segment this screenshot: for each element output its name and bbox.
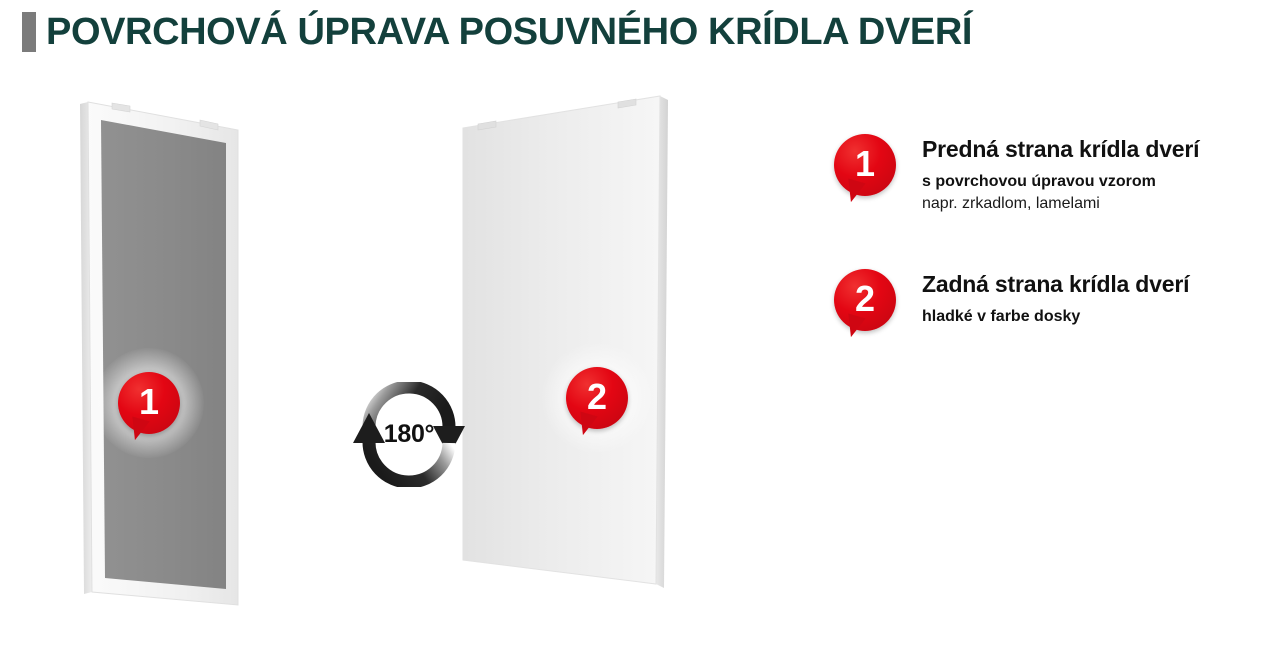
- rotate-180-icon: 180°: [345, 382, 473, 487]
- pin-number: 2: [566, 367, 628, 429]
- legend-text-block: Zadná strana krídla dverí hladké v farbe…: [922, 263, 1272, 327]
- door-back-panel: [463, 96, 668, 588]
- page-title: POVRCHOVÁ ÚPRAVA POSUVNÉHO KRÍDLA DVERÍ: [22, 12, 972, 52]
- doors-diagram: [0, 70, 780, 630]
- door-front-marker-pin[interactable]: 1: [118, 372, 180, 434]
- legend-note: napr. zrkadlom, lamelami: [922, 193, 1272, 215]
- legend-title: Zadná strana krídla dverí: [922, 271, 1272, 299]
- infographic-page: POVRCHOVÁ ÚPRAVA POSUVNÉHO KRÍDLA DVERÍ: [0, 0, 1280, 647]
- door-front-face: [101, 120, 226, 589]
- pin-number: 2: [834, 269, 896, 331]
- legend-text-block: Predná strana krídla dverí s povrchovou …: [922, 128, 1272, 215]
- door-illustration-stage: 1 2: [0, 70, 780, 630]
- door-back-marker-pin[interactable]: 2: [566, 367, 628, 429]
- legend-subtitle: s povrchovou úpravou vzorom: [922, 171, 1272, 193]
- page-title-text: POVRCHOVÁ ÚPRAVA POSUVNÉHO KRÍDLA DVERÍ: [46, 13, 972, 51]
- door-back-face: [463, 96, 660, 584]
- legend-title: Predná strana krídla dverí: [922, 136, 1272, 164]
- legend-item-2: 2 Zadná strana krídla dverí hladké v far…: [812, 263, 1272, 398]
- legend-marker-pin-2[interactable]: 2: [834, 269, 896, 331]
- legend-marker-pin-1[interactable]: 1: [834, 134, 896, 196]
- legend-item-1: 1 Predná strana krídla dverí s povrchovo…: [812, 128, 1272, 263]
- title-accent-bar: [22, 12, 36, 52]
- pin-number: 1: [118, 372, 180, 434]
- rotate-degree-label: 180°: [345, 382, 473, 487]
- door-front-panel: [80, 102, 238, 605]
- legend-subtitle: hladké v farbe dosky: [922, 306, 1272, 328]
- legend: 1 Predná strana krídla dverí s povrchovo…: [812, 128, 1272, 398]
- pin-number: 1: [834, 134, 896, 196]
